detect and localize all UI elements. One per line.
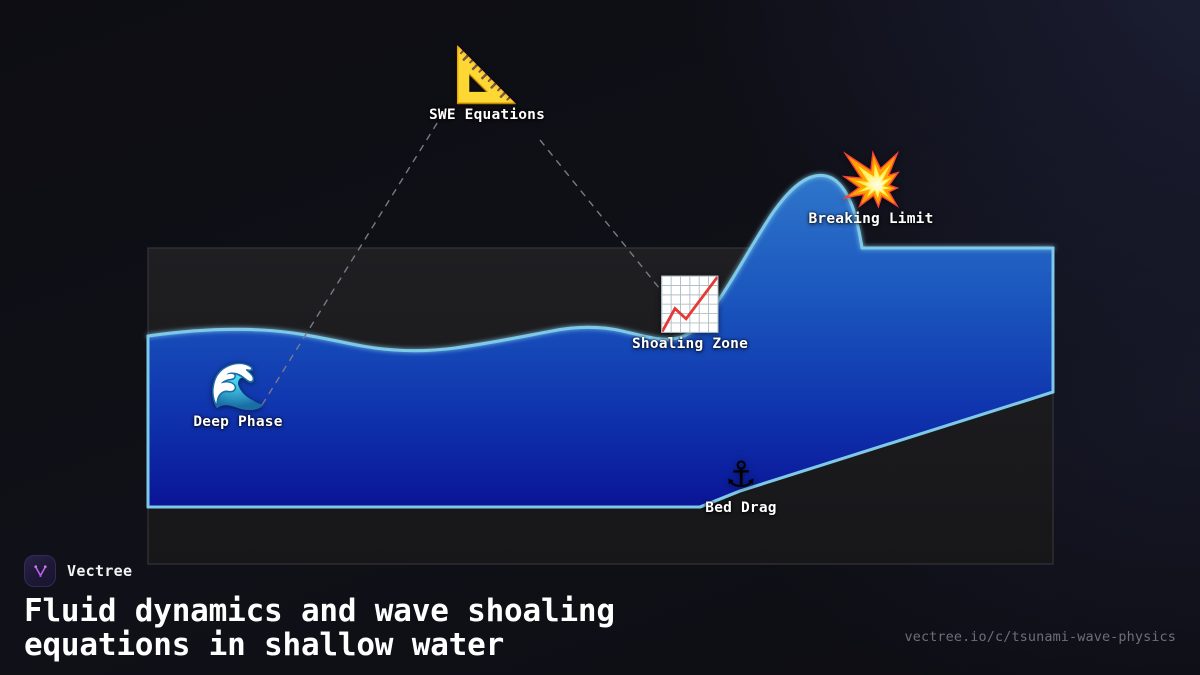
brand-row[interactable]: Vectree bbox=[24, 555, 132, 587]
footer: Vectree Fluid dynamics and wave shoaling… bbox=[0, 547, 1200, 675]
wave-diagram-svg bbox=[0, 0, 1200, 570]
marker-swe-equations[interactable]: 📐 SWE Equations bbox=[429, 48, 545, 123]
marker-breaking-limit[interactable]: 💥 Breaking Limit bbox=[808, 154, 933, 227]
brand-name: Vectree bbox=[67, 562, 132, 580]
page-title: Fluid dynamics and wave shoaling equatio… bbox=[24, 595, 924, 663]
source-url: vectree.io/c/tsunami-wave-physics bbox=[904, 629, 1176, 645]
wave-diagram: 📐 SWE Equations 🌊 Deep Phase 📈 Shoaling … bbox=[0, 0, 1200, 570]
anchor-icon: ⚓ bbox=[728, 451, 755, 495]
marker-deep-phase[interactable]: 🌊 Deep Phase bbox=[193, 363, 282, 430]
marker-label-deep-phase: Deep Phase bbox=[193, 414, 282, 430]
collision-burst-icon: 💥 bbox=[839, 154, 904, 206]
marker-label-breaking-limit: Breaking Limit bbox=[808, 211, 933, 227]
marker-bed-drag[interactable]: ⚓ Bed Drag bbox=[705, 451, 776, 516]
triangular-ruler-icon: 📐 bbox=[453, 48, 520, 102]
chart-increasing-icon: 📈 bbox=[658, 279, 723, 331]
marker-label-bed-drag: Bed Drag bbox=[705, 500, 776, 516]
vectree-branch-logo-icon bbox=[24, 555, 56, 587]
marker-label-swe-equations: SWE Equations bbox=[429, 107, 545, 123]
water-wave-icon: 🌊 bbox=[209, 363, 266, 409]
marker-shoaling-zone[interactable]: 📈 Shoaling Zone bbox=[632, 279, 748, 352]
marker-label-shoaling-zone: Shoaling Zone bbox=[632, 336, 748, 352]
